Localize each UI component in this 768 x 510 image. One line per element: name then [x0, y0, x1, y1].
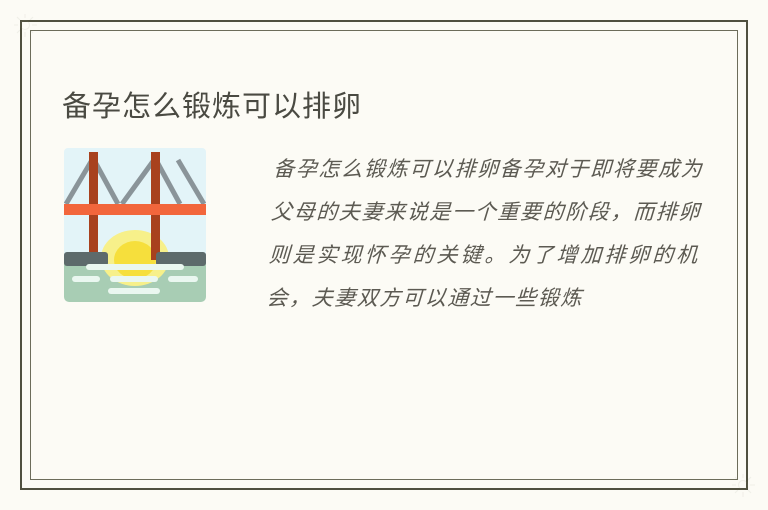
article-body: 备孕怎么锻炼可以排卵备孕对于即将要成为父母的夫妻来说是一个重要的阶段，而排卵则是… [64, 148, 708, 348]
suspension-bridge-sunset-illustration [64, 148, 206, 302]
page-title: 备孕怎么锻炼可以排卵 [62, 87, 362, 127]
article-paragraph: 备孕怎么锻炼可以排卵备孕对于即将要成为父母的夫妻来说是一个重要的阶段，而排卵则是… [265, 148, 704, 320]
corner-watermark-icon [12, 12, 38, 38]
article-card: 备孕怎么锻炼可以排卵 [40, 40, 728, 470]
corner-watermark-icon [730, 472, 756, 498]
